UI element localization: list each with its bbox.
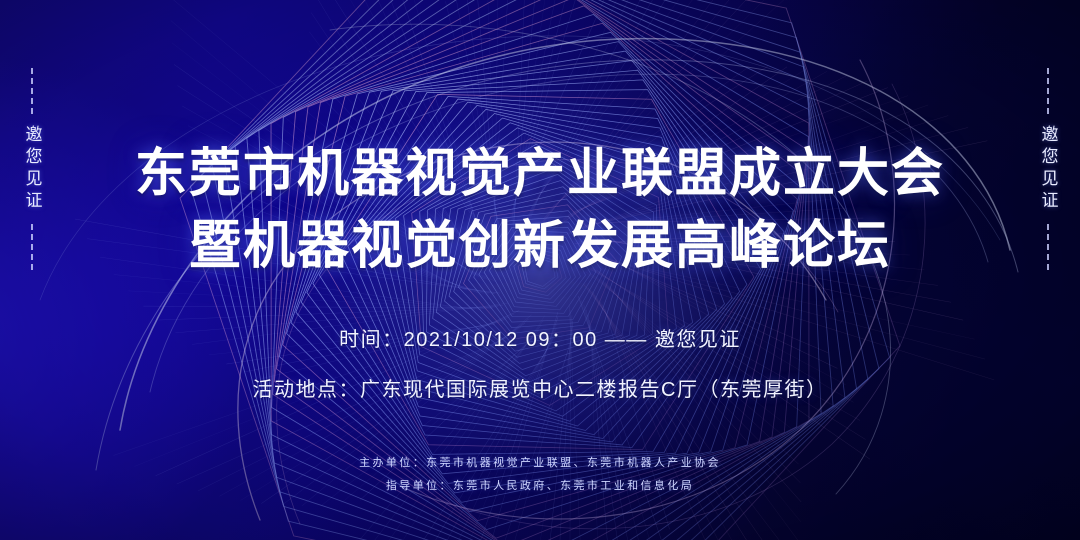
- poster-content: 东莞市机器视觉产业联盟成立大会 暨机器视觉创新发展高峰论坛 时间：2021/10…: [0, 0, 1080, 540]
- event-time-line: 时间：2021/10/12 09：00 —— 邀您见证: [253, 323, 828, 352]
- title-line-2: 暨机器视觉创新发展高峰论坛: [135, 215, 945, 279]
- poster-meta: 时间：2021/10/12 09：00 —— 邀您见证 活动地点：广东现代国际展…: [253, 323, 828, 402]
- event-venue-line: 活动地点：广东现代国际展览中心二楼报告C厅（东莞厚街）: [253, 373, 828, 402]
- guidance-line: 指导单位：东莞市人民政府、东莞市工业和信息化局: [0, 481, 1080, 492]
- poster-title: 东莞市机器视觉产业联盟成立大会 暨机器视觉创新发展高峰论坛: [135, 143, 945, 279]
- title-line-1: 东莞市机器视觉产业联盟成立大会: [135, 143, 945, 207]
- poster-organizers: 主办单位：东莞市机器视觉产业联盟、东莞市机器人产业协会 指导单位：东莞市人民政府…: [0, 458, 1080, 492]
- organizer-line: 主办单位：东莞市机器视觉产业联盟、东莞市机器人产业协会: [0, 458, 1080, 469]
- event-poster: 邀您见证 邀您见证 东莞市机器视觉产业联盟成立大会 暨机器视觉创新发展高峰论坛 …: [0, 0, 1080, 540]
